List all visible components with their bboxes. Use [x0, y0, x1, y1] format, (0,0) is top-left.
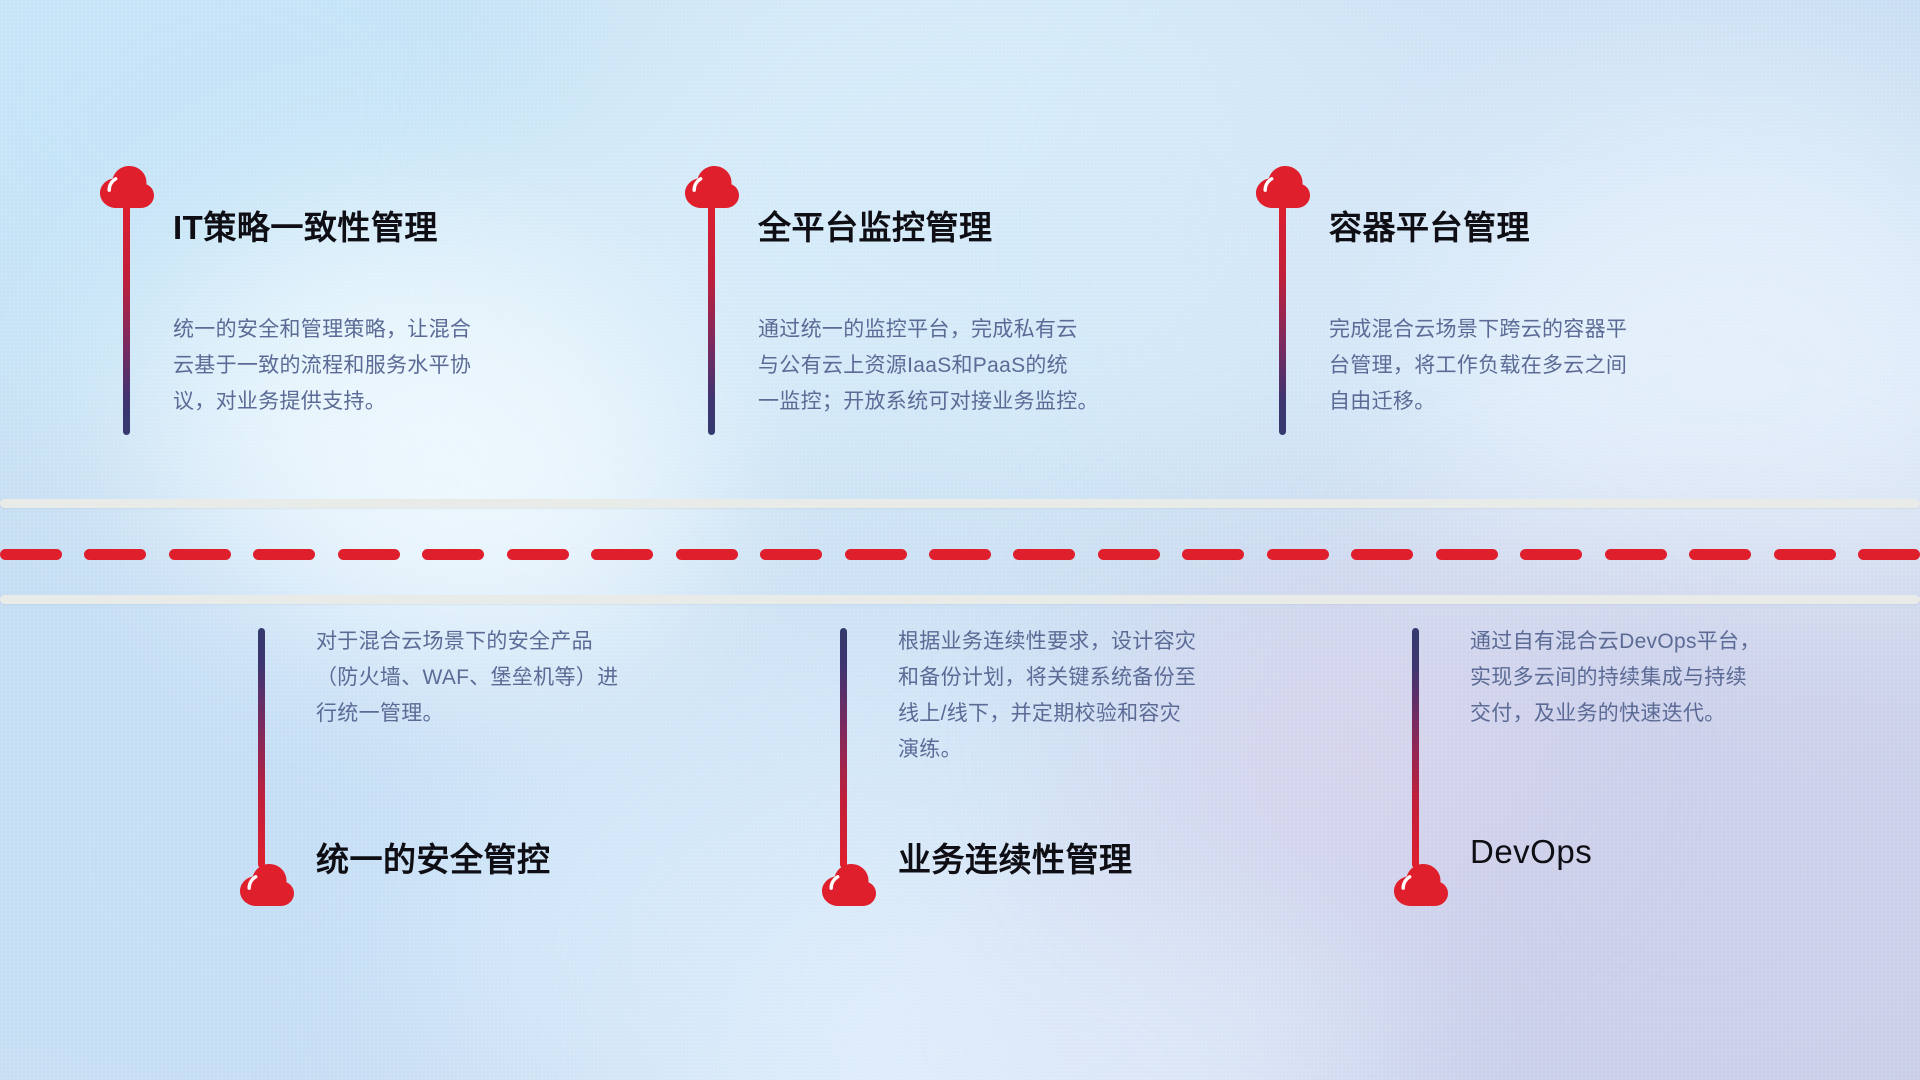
- connector-line: [1412, 628, 1419, 868]
- road-dash: [591, 549, 653, 560]
- road-dash: [169, 549, 231, 560]
- road-center-dashes: [0, 549, 1920, 560]
- connector-line: [258, 628, 265, 868]
- road-dash: [1858, 549, 1920, 560]
- top-item-1-heading: IT策略一致性管理: [173, 201, 438, 249]
- road-dash: [1267, 549, 1329, 560]
- connector-line: [708, 200, 715, 435]
- bottom-item-2-heading: 业务连续性管理: [898, 833, 1133, 881]
- top-item-1-description: 统一的安全和管理策略，让混合云基于一致的流程和服务水平协议，对业务提供支持。: [173, 312, 603, 420]
- bottom-item-1-heading: 统一的安全管控: [316, 833, 551, 881]
- description-line: 线上/线下，并定期校验和容灾: [898, 696, 1328, 732]
- road-edge-line-bottom: [0, 595, 1920, 604]
- description-line: 自由迁移。: [1329, 384, 1759, 420]
- cloud-icon: [236, 860, 298, 908]
- top-item-2-heading: 全平台监控管理: [758, 201, 993, 249]
- road-dash: [1605, 549, 1667, 560]
- description-line: 云基于一致的流程和服务水平协: [173, 348, 603, 384]
- description-line: （防火墙、WAF、堡垒机等）进: [316, 660, 746, 696]
- connector-line: [1279, 200, 1286, 435]
- road-dash: [1436, 549, 1498, 560]
- description-line: 交付，及业务的快速迭代。: [1470, 696, 1900, 732]
- description-line: 演练。: [898, 732, 1328, 768]
- connector-line: [840, 628, 847, 868]
- road-dash: [422, 549, 484, 560]
- bottom-item-3-description: 通过自有混合云DevOps平台，实现多云间的持续集成与持续交付，及业务的快速迭代…: [1470, 624, 1900, 732]
- connector-line: [123, 200, 130, 435]
- description-line: 通过统一的监控平台，完成私有云: [758, 312, 1188, 348]
- road-dash: [929, 549, 991, 560]
- description-line: 与公有云上资源IaaS和PaaS的统: [758, 348, 1188, 384]
- road-dash: [676, 549, 738, 560]
- road-dash: [507, 549, 569, 560]
- cloud-icon: [1390, 860, 1452, 908]
- road-dash: [1689, 549, 1751, 560]
- road-dash: [760, 549, 822, 560]
- description-line: 行统一管理。: [316, 696, 746, 732]
- cloud-icon: [818, 860, 880, 908]
- description-line: 根据业务连续性要求，设计容灾: [898, 624, 1328, 660]
- road-dash: [1520, 549, 1582, 560]
- top-item-3-description: 完成混合云场景下跨云的容器平台管理，将工作负载在多云之间自由迁移。: [1329, 312, 1759, 420]
- top-item-3-heading: 容器平台管理: [1329, 201, 1530, 249]
- bottom-item-1-description: 对于混合云场景下的安全产品（防火墙、WAF、堡垒机等）进行统一管理。: [316, 624, 746, 732]
- road-dash: [1351, 549, 1413, 560]
- road-dash: [845, 549, 907, 560]
- description-line: 和备份计划，将关键系统备份至: [898, 660, 1328, 696]
- road-dash: [253, 549, 315, 560]
- top-item-2-description: 通过统一的监控平台，完成私有云与公有云上资源IaaS和PaaS的统一监控；开放系…: [758, 312, 1188, 420]
- road-dash: [0, 549, 62, 560]
- description-line: 完成混合云场景下跨云的容器平: [1329, 312, 1759, 348]
- description-line: 通过自有混合云DevOps平台，: [1470, 624, 1900, 660]
- description-line: 对于混合云场景下的安全产品: [316, 624, 746, 660]
- description-line: 统一的安全和管理策略，让混合: [173, 312, 603, 348]
- description-line: 一监控；开放系统可对接业务监控。: [758, 384, 1188, 420]
- road-dash: [1013, 549, 1075, 560]
- road-dash: [338, 549, 400, 560]
- description-line: 台管理，将工作负载在多云之间: [1329, 348, 1759, 384]
- bottom-item-3-heading: DevOps: [1470, 833, 1592, 871]
- road-dash: [1774, 549, 1836, 560]
- bottom-item-2-description: 根据业务连续性要求，设计容灾和备份计划，将关键系统备份至线上/线下，并定期校验和…: [898, 624, 1328, 768]
- road-divider: [0, 488, 1920, 614]
- road-dash: [1098, 549, 1160, 560]
- road-dash: [84, 549, 146, 560]
- description-line: 实现多云间的持续集成与持续: [1470, 660, 1900, 696]
- road-edge-line-top: [0, 499, 1920, 508]
- description-line: 议，对业务提供支持。: [173, 384, 603, 420]
- road-dash: [1182, 549, 1244, 560]
